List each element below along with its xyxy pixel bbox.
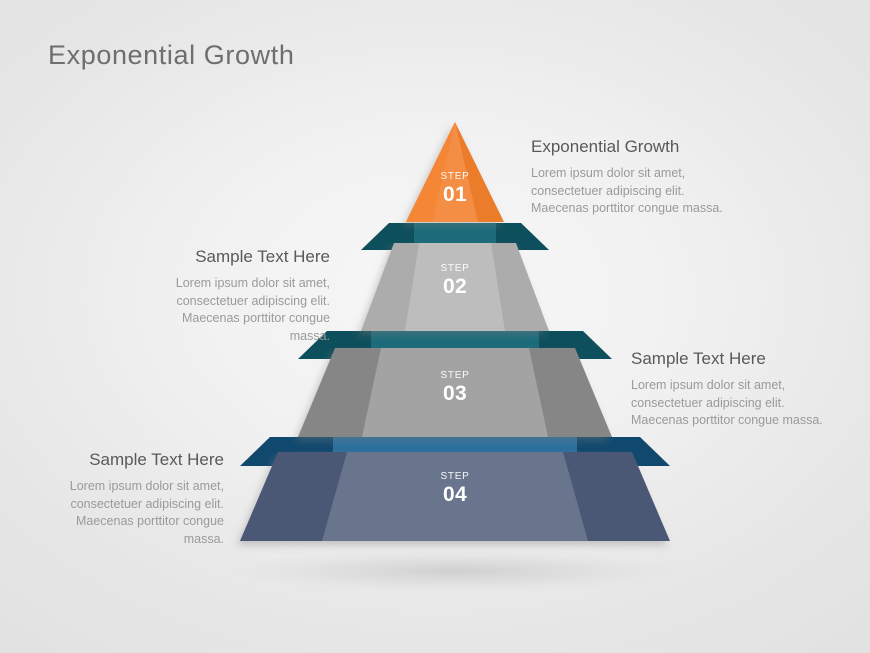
pyramid-tier-3[interactable] [298, 331, 612, 437]
pyramid-tier-1[interactable] [406, 122, 504, 222]
callout-1-body: Lorem ipsum dolor sit amet, consectetuer… [531, 165, 731, 218]
tier-4-front-face [322, 452, 588, 541]
callout-4-heading: Sample Text Here [40, 449, 224, 471]
tier-3-front-face [362, 348, 548, 437]
callout-3: Sample Text Here Lorem ipsum dolor sit a… [631, 348, 831, 430]
callout-4: Sample Text Here Lorem ipsum dolor sit a… [40, 449, 224, 548]
callout-3-heading: Sample Text Here [631, 348, 831, 370]
callout-3-body: Lorem ipsum dolor sit amet, consectetuer… [631, 377, 831, 430]
callout-2-body: Lorem ipsum dolor sit amet, consectetuer… [140, 275, 330, 345]
callout-2: Sample Text Here Lorem ipsum dolor sit a… [140, 246, 330, 345]
tier-2-front-face [405, 243, 505, 331]
callout-1-heading: Exponential Growth [531, 136, 731, 158]
callout-2-heading: Sample Text Here [140, 246, 330, 268]
callout-1: Exponential Growth Lorem ipsum dolor sit… [531, 136, 731, 218]
ground-shadow [223, 549, 687, 593]
pyramid-graphic [0, 0, 870, 653]
slide-canvas: Exponential Growth [0, 0, 870, 653]
pyramid-tier-4[interactable] [240, 437, 670, 541]
pyramid-tier-2[interactable] [361, 223, 549, 331]
callout-4-body: Lorem ipsum dolor sit amet, consectetuer… [40, 478, 224, 548]
